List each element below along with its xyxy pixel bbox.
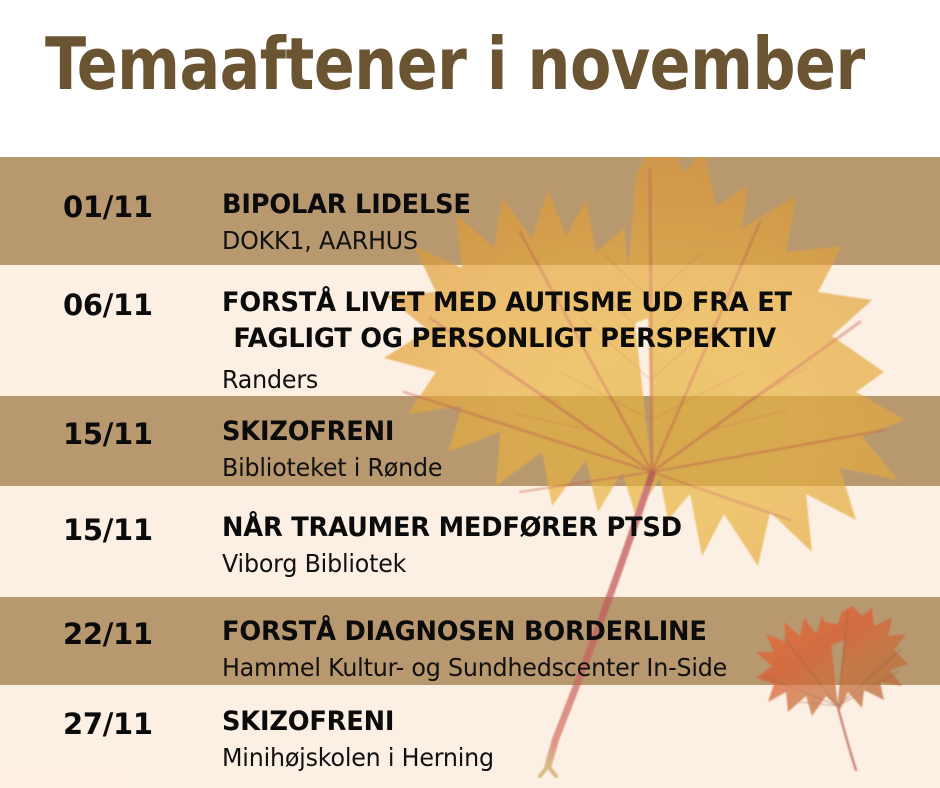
event-title-line2: FAGLIGT OG PERSONLIGT PERSPEKTIV xyxy=(222,321,895,357)
event-row-1[interactable]: 01/11 BIPOLAR LIDELSE DOKK1, AARHUS xyxy=(0,157,940,265)
event-title-line1: BIPOLAR LIDELSE xyxy=(222,189,471,220)
event-date: 06/11 xyxy=(63,288,153,322)
event-date: 01/11 xyxy=(63,190,153,224)
event-venue: Biblioteket i Rønde xyxy=(222,452,895,483)
event-title: FORSTÅ LIVET MED AUTISME UD FRA ET FAGLI… xyxy=(222,285,895,356)
event-venue: Minihøjskolen i Herning xyxy=(222,742,895,773)
event-title-line1: NÅR TRAUMER MEDFØRER PTSD xyxy=(222,512,682,543)
event-row-5[interactable]: 22/11 FORSTÅ DIAGNOSEN BORDERLINE Hammel… xyxy=(0,597,940,685)
event-title-line1: FORSTÅ LIVET MED AUTISME UD FRA ET xyxy=(222,287,792,318)
event-date: 27/11 xyxy=(63,707,153,741)
page-title: Temaaftener i november xyxy=(45,28,865,100)
event-title: SKIZOFRENI xyxy=(222,704,895,740)
poster-canvas: Temaaftener i november 01/11 BIPOLAR LID… xyxy=(0,0,940,788)
event-title-line1: FORSTÅ DIAGNOSEN BORDERLINE xyxy=(222,616,707,647)
event-title-line1: SKIZOFRENI xyxy=(222,416,394,447)
event-date: 15/11 xyxy=(63,417,153,451)
event-body: BIPOLAR LIDELSE DOKK1, AARHUS xyxy=(222,187,930,256)
event-body: SKIZOFRENI Biblioteket i Rønde xyxy=(222,414,930,483)
event-title-line1: SKIZOFRENI xyxy=(222,706,394,737)
event-body: SKIZOFRENI Minihøjskolen i Herning xyxy=(222,704,930,773)
event-title: SKIZOFRENI xyxy=(222,414,895,450)
event-title: NÅR TRAUMER MEDFØRER PTSD xyxy=(222,510,895,546)
event-venue: Viborg Bibliotek xyxy=(222,548,895,579)
event-date: 22/11 xyxy=(63,617,153,651)
event-title: FORSTÅ DIAGNOSEN BORDERLINE xyxy=(222,614,895,650)
event-title: BIPOLAR LIDELSE xyxy=(222,187,895,223)
event-venue: DOKK1, AARHUS xyxy=(222,225,895,256)
event-date: 15/11 xyxy=(63,513,153,547)
event-row-4[interactable]: 15/11 NÅR TRAUMER MEDFØRER PTSD Viborg B… xyxy=(0,486,940,597)
event-body: NÅR TRAUMER MEDFØRER PTSD Viborg Bibliot… xyxy=(222,510,930,579)
event-row-3[interactable]: 15/11 SKIZOFRENI Biblioteket i Rønde xyxy=(0,396,940,486)
event-body: FORSTÅ LIVET MED AUTISME UD FRA ET FAGLI… xyxy=(222,285,930,396)
event-row-6[interactable]: 27/11 SKIZOFRENI Minihøjskolen i Herning xyxy=(0,685,940,788)
event-row-2[interactable]: 06/11 FORSTÅ LIVET MED AUTISME UD FRA ET… xyxy=(0,265,940,396)
poster-header: Temaaftener i november xyxy=(0,0,940,157)
event-venue: Randers xyxy=(222,364,895,395)
event-body: FORSTÅ DIAGNOSEN BORDERLINE Hammel Kultu… xyxy=(222,614,930,683)
event-venue: Hammel Kultur- og Sundhedscenter In-Side xyxy=(222,652,895,683)
